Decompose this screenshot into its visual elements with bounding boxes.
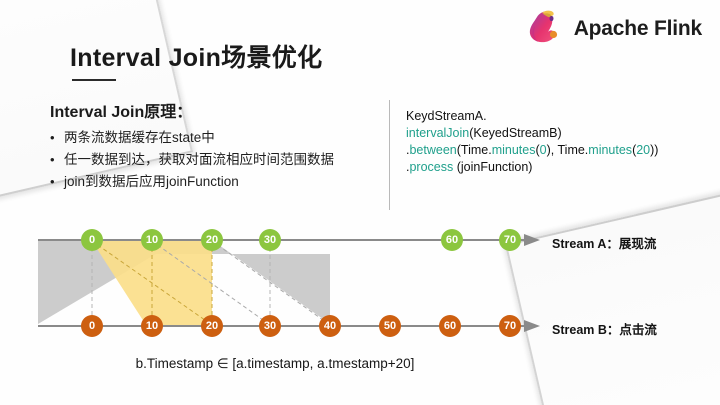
timeline-node: 10 xyxy=(141,229,163,251)
interval-formula: b.Timestamp ∈ [a.timestamp, a.tmestamp+2… xyxy=(0,356,550,372)
timeline-node: 0 xyxy=(81,315,103,337)
timeline-node: 70 xyxy=(499,229,521,251)
timeline-node: 40 xyxy=(319,315,341,337)
timeline-node: 30 xyxy=(259,315,281,337)
timeline-node: 20 xyxy=(201,315,223,337)
interval-join-diagram: 01020306070 010203040506070 Stream A：展现流… xyxy=(0,0,720,405)
stream-a-label: Stream A：展现流 xyxy=(552,233,656,252)
timeline-node: 20 xyxy=(201,229,223,251)
timeline-node: 60 xyxy=(439,315,461,337)
timeline-node: 0 xyxy=(81,229,103,251)
stream-b-arrow-icon xyxy=(524,320,540,332)
timeline-node: 70 xyxy=(499,315,521,337)
timeline-node: 60 xyxy=(441,229,463,251)
stream-b-label: Stream B：点击流 xyxy=(552,319,657,338)
timeline-node: 30 xyxy=(259,229,281,251)
timeline-node: 50 xyxy=(379,315,401,337)
timeline-node: 10 xyxy=(141,315,163,337)
stream-a-arrow-icon xyxy=(524,234,540,246)
slide-root: Apache Flink Interval Join场景优化 Interval … xyxy=(0,0,720,405)
diagram-bands-svg xyxy=(0,0,720,405)
